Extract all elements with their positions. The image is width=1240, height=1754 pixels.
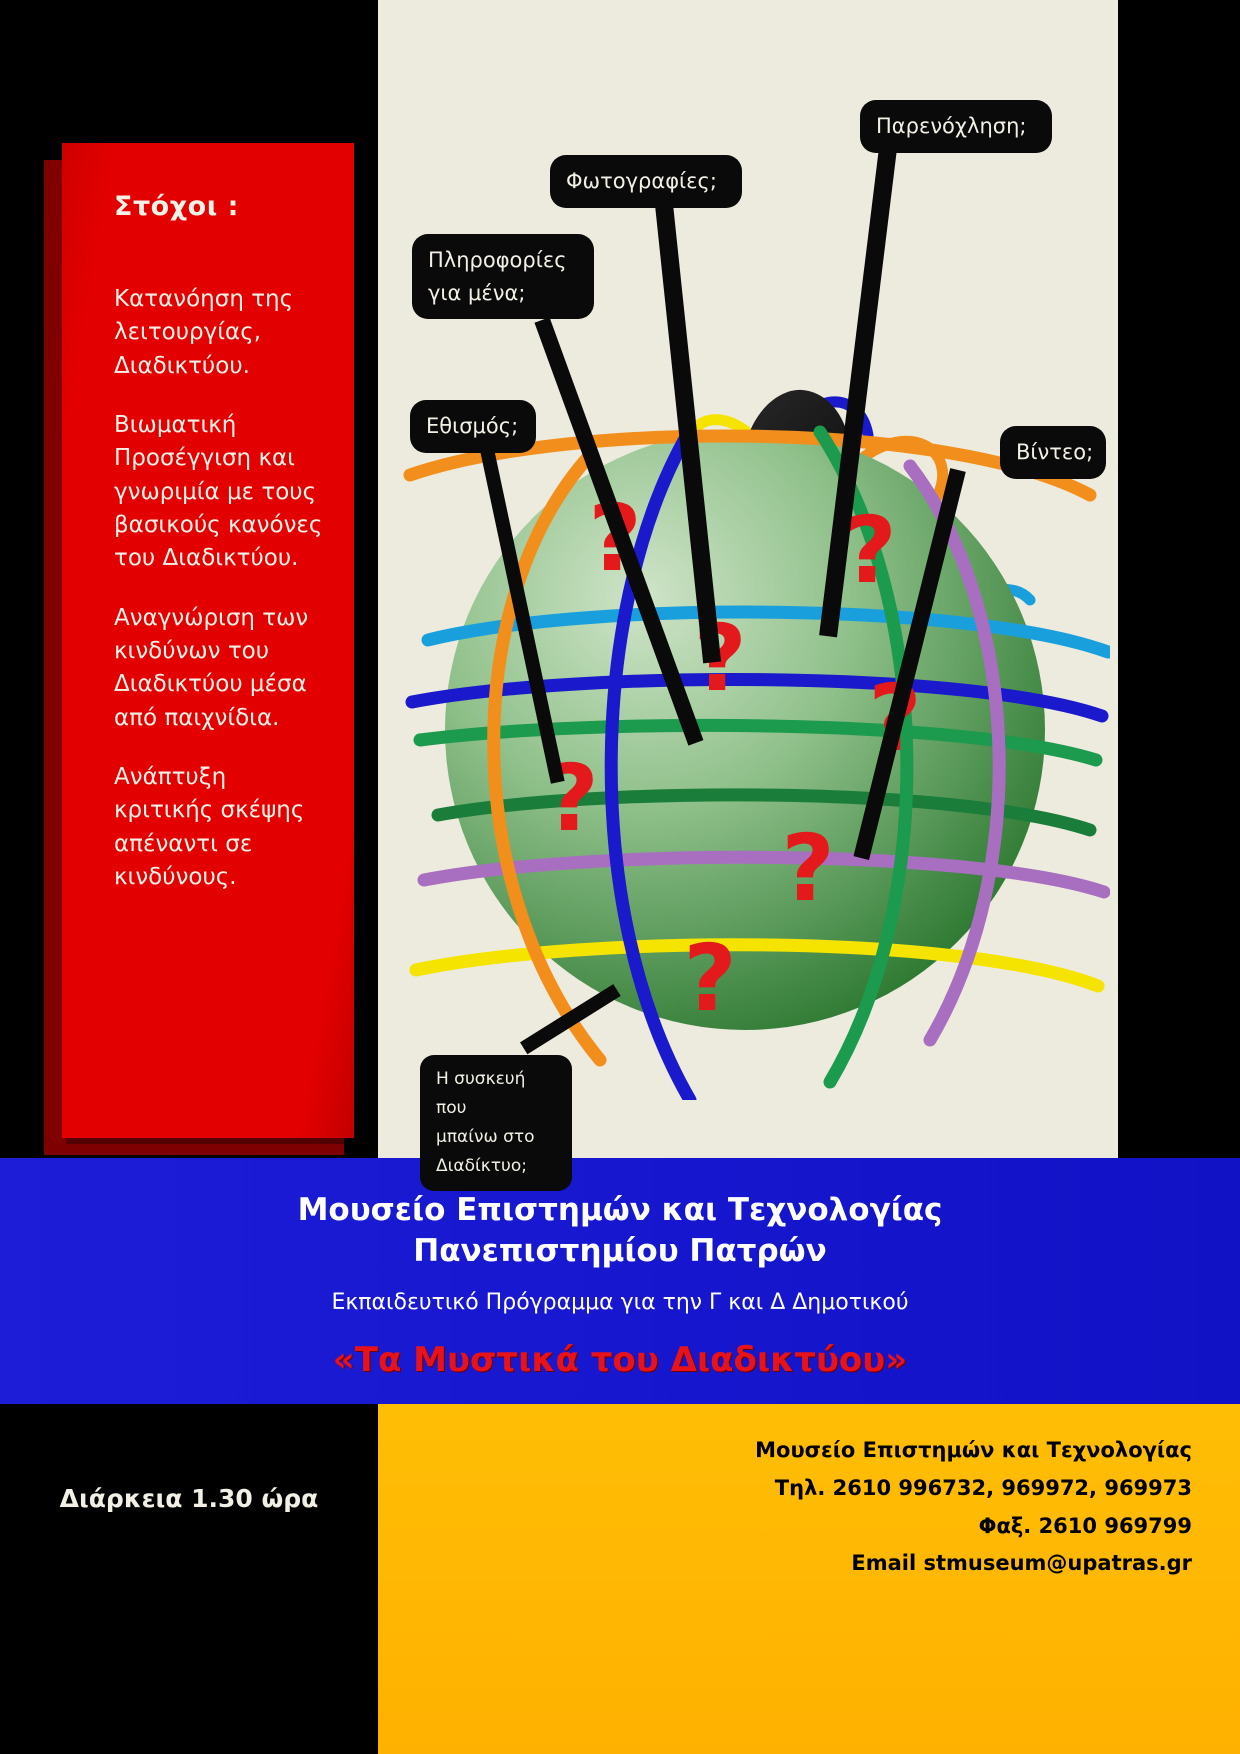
question-mark: ? bbox=[781, 815, 834, 922]
program-subtitle: Εκπαιδευτικό Πρόγραμμα για την Γ και Δ Δ… bbox=[0, 1290, 1240, 1315]
duration-text: Διάρκεια 1.30 ώρα bbox=[0, 1484, 378, 1513]
program-title: «Τα Μυστικά του Διαδικτύου» bbox=[0, 1340, 1240, 1380]
bubble-device[interactable]: Η συσκευή που μπαίνω στο Διαδίκτυο; bbox=[420, 1055, 572, 1191]
bubble-info[interactable]: Πληροφορίες για μένα; bbox=[412, 234, 594, 319]
right-black-margin bbox=[1118, 0, 1240, 1158]
objectives-title: Στόχοι : bbox=[114, 191, 239, 222]
contact-line-phone: Τηλ. 2610 996732, 969972, 969973 bbox=[755, 1470, 1192, 1508]
organization-name: Μουσείο Επιστημών και Τεχνολογίας Πανεπι… bbox=[0, 1190, 1240, 1272]
objective-item: Κατανόηση της λειτουργίας, Διαδικτύου. bbox=[114, 283, 329, 383]
objective-item: Ανάπτυξη κριτικής σκέψης απέναντι σε κιν… bbox=[114, 761, 329, 894]
objectives-list: Κατανόηση της λειτουργίας, Διαδικτύου. Β… bbox=[114, 283, 329, 921]
bubble-harassment[interactable]: Παρενόχληση; bbox=[860, 100, 1052, 153]
bubble-photos[interactable]: Φωτογραφίες; bbox=[550, 155, 742, 208]
bubble-addiction[interactable]: Εθισμός; bbox=[410, 400, 536, 453]
bubble-video[interactable]: Βίντεο; bbox=[1000, 426, 1106, 479]
organization-line-2: Πανεπιστημίου Πατρών bbox=[0, 1231, 1240, 1272]
objectives-panel: Στόχοι : Κατανόηση της λειτουργίας, Διαδ… bbox=[62, 143, 354, 1138]
organization-line-1: Μουσείο Επιστημών και Τεχνολογίας bbox=[0, 1190, 1240, 1231]
duration-block: Διάρκεια 1.30 ώρα bbox=[0, 1404, 378, 1754]
objective-item: Βιωματική Προσέγγιση και γνωριμία με του… bbox=[114, 409, 329, 576]
contact-block: Μουσείο Επιστημών και Τεχνολογίας Τηλ. 2… bbox=[378, 1404, 1240, 1754]
contact-details: Μουσείο Επιστημών και Τεχνολογίας Τηλ. 2… bbox=[755, 1432, 1192, 1583]
globe-illustration: ? ? ? ? ? ? ? bbox=[390, 270, 1110, 1100]
contact-line-email[interactable]: Email stmuseum@upatras.gr bbox=[755, 1545, 1192, 1583]
upper-section: Στόχοι : Κατανόηση της λειτουργίας, Διαδ… bbox=[0, 0, 1240, 1158]
contact-line-organization: Μουσείο Επιστημών και Τεχνολογίας bbox=[755, 1432, 1192, 1470]
objective-item: Αναγνώριση των κινδύνων του Διαδικτύου μ… bbox=[114, 602, 329, 735]
poster: Στόχοι : Κατανόηση της λειτουργίας, Διαδ… bbox=[0, 0, 1240, 1754]
organization-band: Μουσείο Επιστημών και Τεχνολογίας Πανεπι… bbox=[0, 1158, 1240, 1404]
question-mark: ? bbox=[683, 925, 736, 1032]
contact-line-fax: Φαξ. 2610 969799 bbox=[755, 1508, 1192, 1546]
